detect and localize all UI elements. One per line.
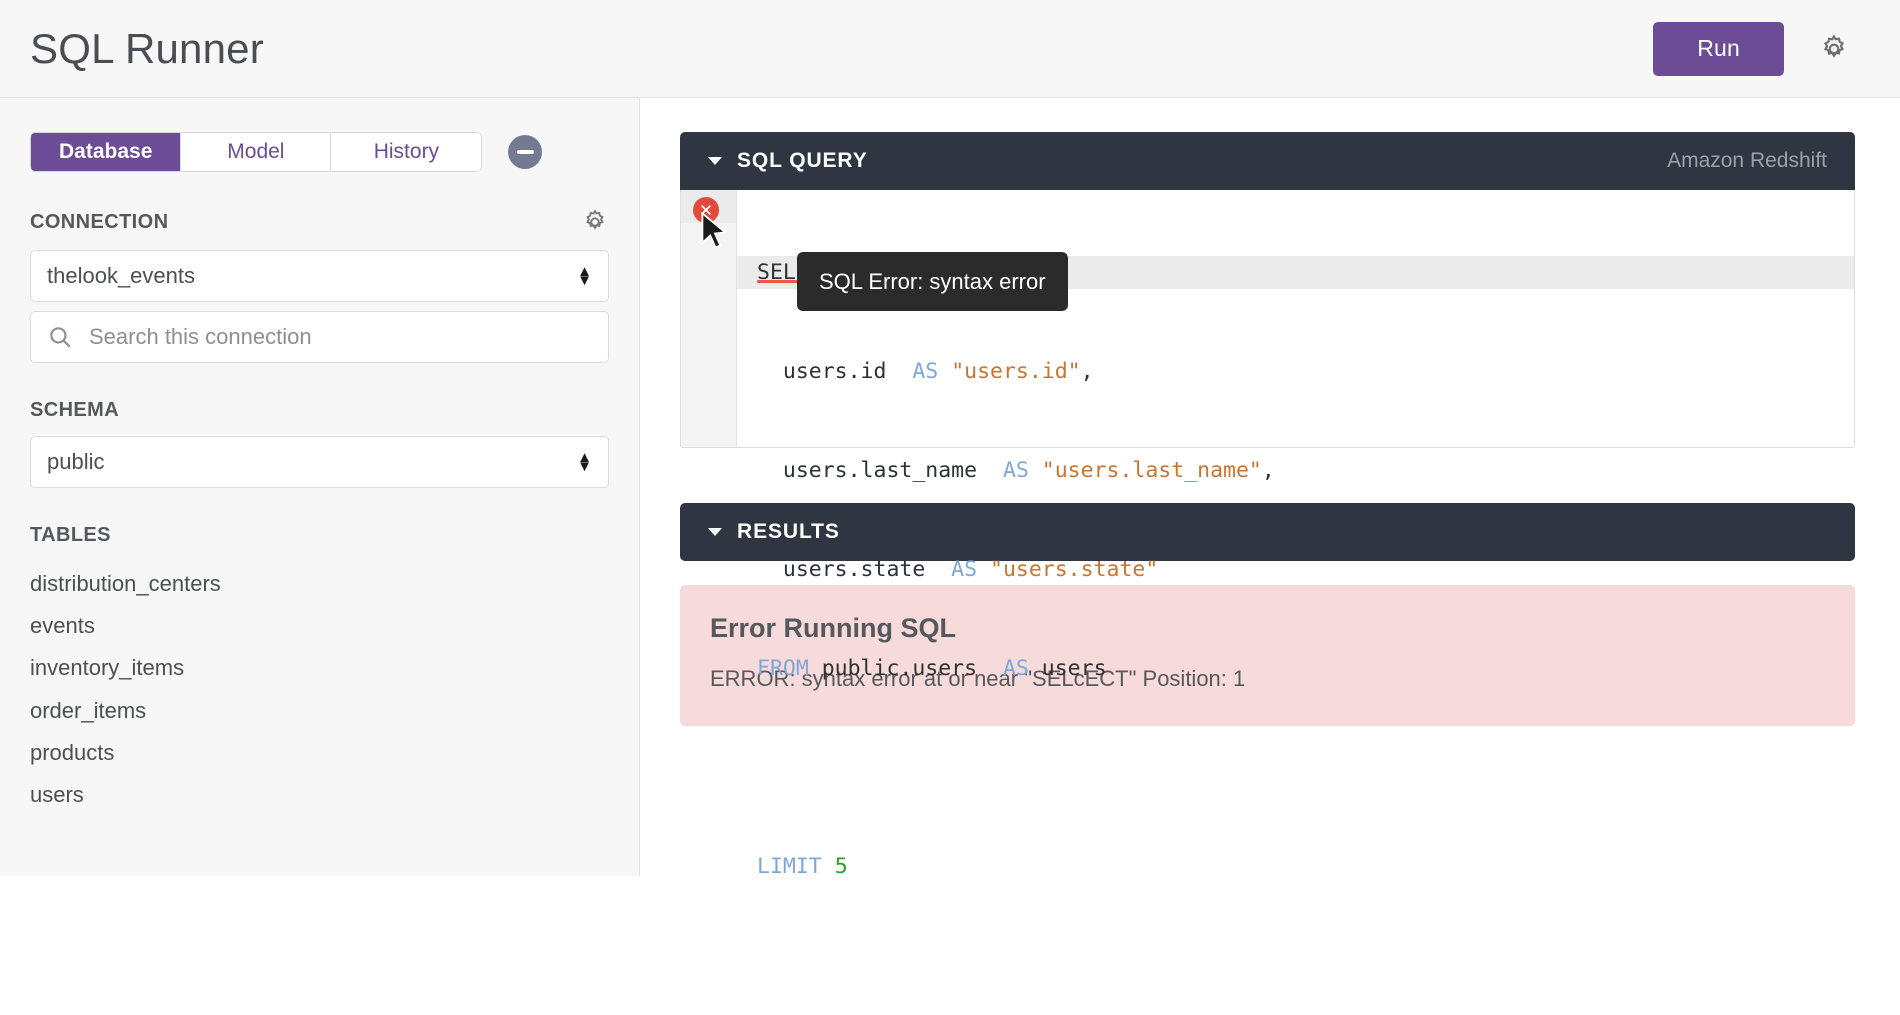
main-content: SQL QUERY Amazon Redshift SELcECT users.… (640, 98, 1900, 876)
gear-icon (581, 208, 609, 236)
tables-list: distribution_centers events inventory_it… (30, 563, 609, 816)
code-string: "users.id" (951, 359, 1080, 384)
code-keyword: AS (1003, 656, 1029, 681)
list-item[interactable]: distribution_centers (30, 563, 609, 605)
list-item[interactable]: events (30, 605, 609, 647)
connection-label: CONNECTION (30, 211, 581, 234)
list-item[interactable]: inventory_items (30, 647, 609, 689)
schema-selected-value: public (47, 449, 577, 475)
stepper-arrows-icon: ▲▼ (577, 453, 592, 471)
code-token: , (1081, 359, 1094, 384)
list-item[interactable]: products (30, 732, 609, 774)
code-token (1029, 458, 1042, 483)
app-header: SQL Runner Run (0, 0, 1900, 98)
tab-history[interactable]: History (331, 133, 481, 171)
code-line-3: users.last_name AS "users.last_name", (737, 454, 1854, 487)
code-keyword: FROM (757, 656, 809, 681)
schema-select[interactable]: public ▲▼ (30, 436, 609, 488)
x-glyph (698, 202, 714, 218)
schema-section-header: SCHEMA (30, 399, 609, 422)
connection-section-header: CONNECTION (30, 208, 609, 236)
sql-query-panel-header: SQL QUERY Amazon Redshift (680, 132, 1855, 190)
caret-down-icon[interactable] (708, 157, 722, 165)
code-token: users.last_name (757, 458, 1003, 483)
list-item[interactable]: order_items (30, 690, 609, 732)
sidebar: Database Model History CONNECTION theloo… (0, 98, 640, 876)
code-token: , (1262, 458, 1275, 483)
code-line-4: users.state AS "users.state" (737, 553, 1854, 586)
sidebar-tabs: Database Model History (30, 132, 482, 172)
minus-circle-icon[interactable] (508, 135, 542, 169)
search-icon (47, 324, 73, 350)
stepper-arrows-icon: ▲▼ (577, 267, 592, 285)
code-line-6 (737, 751, 1854, 784)
code-token: public.users (809, 656, 1003, 681)
connection-selected-value: thelook_events (47, 263, 577, 289)
code-line-7: LIMIT 5 (737, 850, 1854, 883)
tab-model[interactable]: Model (181, 133, 331, 171)
code-token: users.id (757, 359, 912, 384)
schema-label: SCHEMA (30, 399, 609, 422)
gear-icon (1818, 33, 1850, 65)
connection-select[interactable]: thelook_events ▲▼ (30, 250, 609, 302)
app-body: Database Model History CONNECTION theloo… (0, 98, 1900, 876)
caret-down-icon[interactable] (708, 528, 722, 536)
code-keyword: AS (1003, 458, 1029, 483)
run-button[interactable]: Run (1653, 22, 1784, 76)
code-string: "users.last_name" (1042, 458, 1262, 483)
code-token (822, 854, 835, 879)
sql-editor[interactable]: SELcECT users.id AS "users.id", users.la… (680, 190, 1855, 448)
sidebar-tab-row: Database Model History (30, 132, 609, 172)
code-line-5: FROM public.users AS users (737, 652, 1854, 685)
search-input[interactable] (87, 323, 592, 351)
code-string: "users.state" (990, 557, 1158, 582)
code-token (938, 359, 951, 384)
tab-database[interactable]: Database (31, 133, 181, 171)
tables-section-header: TABLES (30, 524, 609, 547)
error-circle-x-icon[interactable] (693, 197, 719, 223)
code-line-2: users.id AS "users.id", (737, 355, 1854, 388)
sql-error-tooltip: SQL Error: syntax error (797, 252, 1068, 311)
connection-gear-icon[interactable] (581, 208, 609, 236)
page-title: SQL Runner (30, 28, 1653, 70)
code-keyword: AS (951, 557, 977, 582)
search-connection-field[interactable] (30, 311, 609, 363)
sql-query-title: SQL QUERY (737, 149, 1667, 173)
code-number: 5 (835, 854, 848, 879)
code-keyword: AS (912, 359, 938, 384)
minus-bar (517, 150, 534, 154)
tables-label: TABLES (30, 524, 609, 547)
code-token: users (1029, 656, 1107, 681)
sql-code[interactable]: SELcECT users.id AS "users.id", users.la… (737, 190, 1854, 447)
sql-dialect-label: Amazon Redshift (1667, 149, 1827, 173)
list-item[interactable]: users (30, 774, 609, 816)
editor-gutter (681, 190, 737, 447)
settings-gear-icon[interactable] (1814, 29, 1854, 69)
code-token: users.state (757, 557, 951, 582)
code-token (977, 557, 990, 582)
code-keyword: LIMIT (757, 854, 822, 879)
